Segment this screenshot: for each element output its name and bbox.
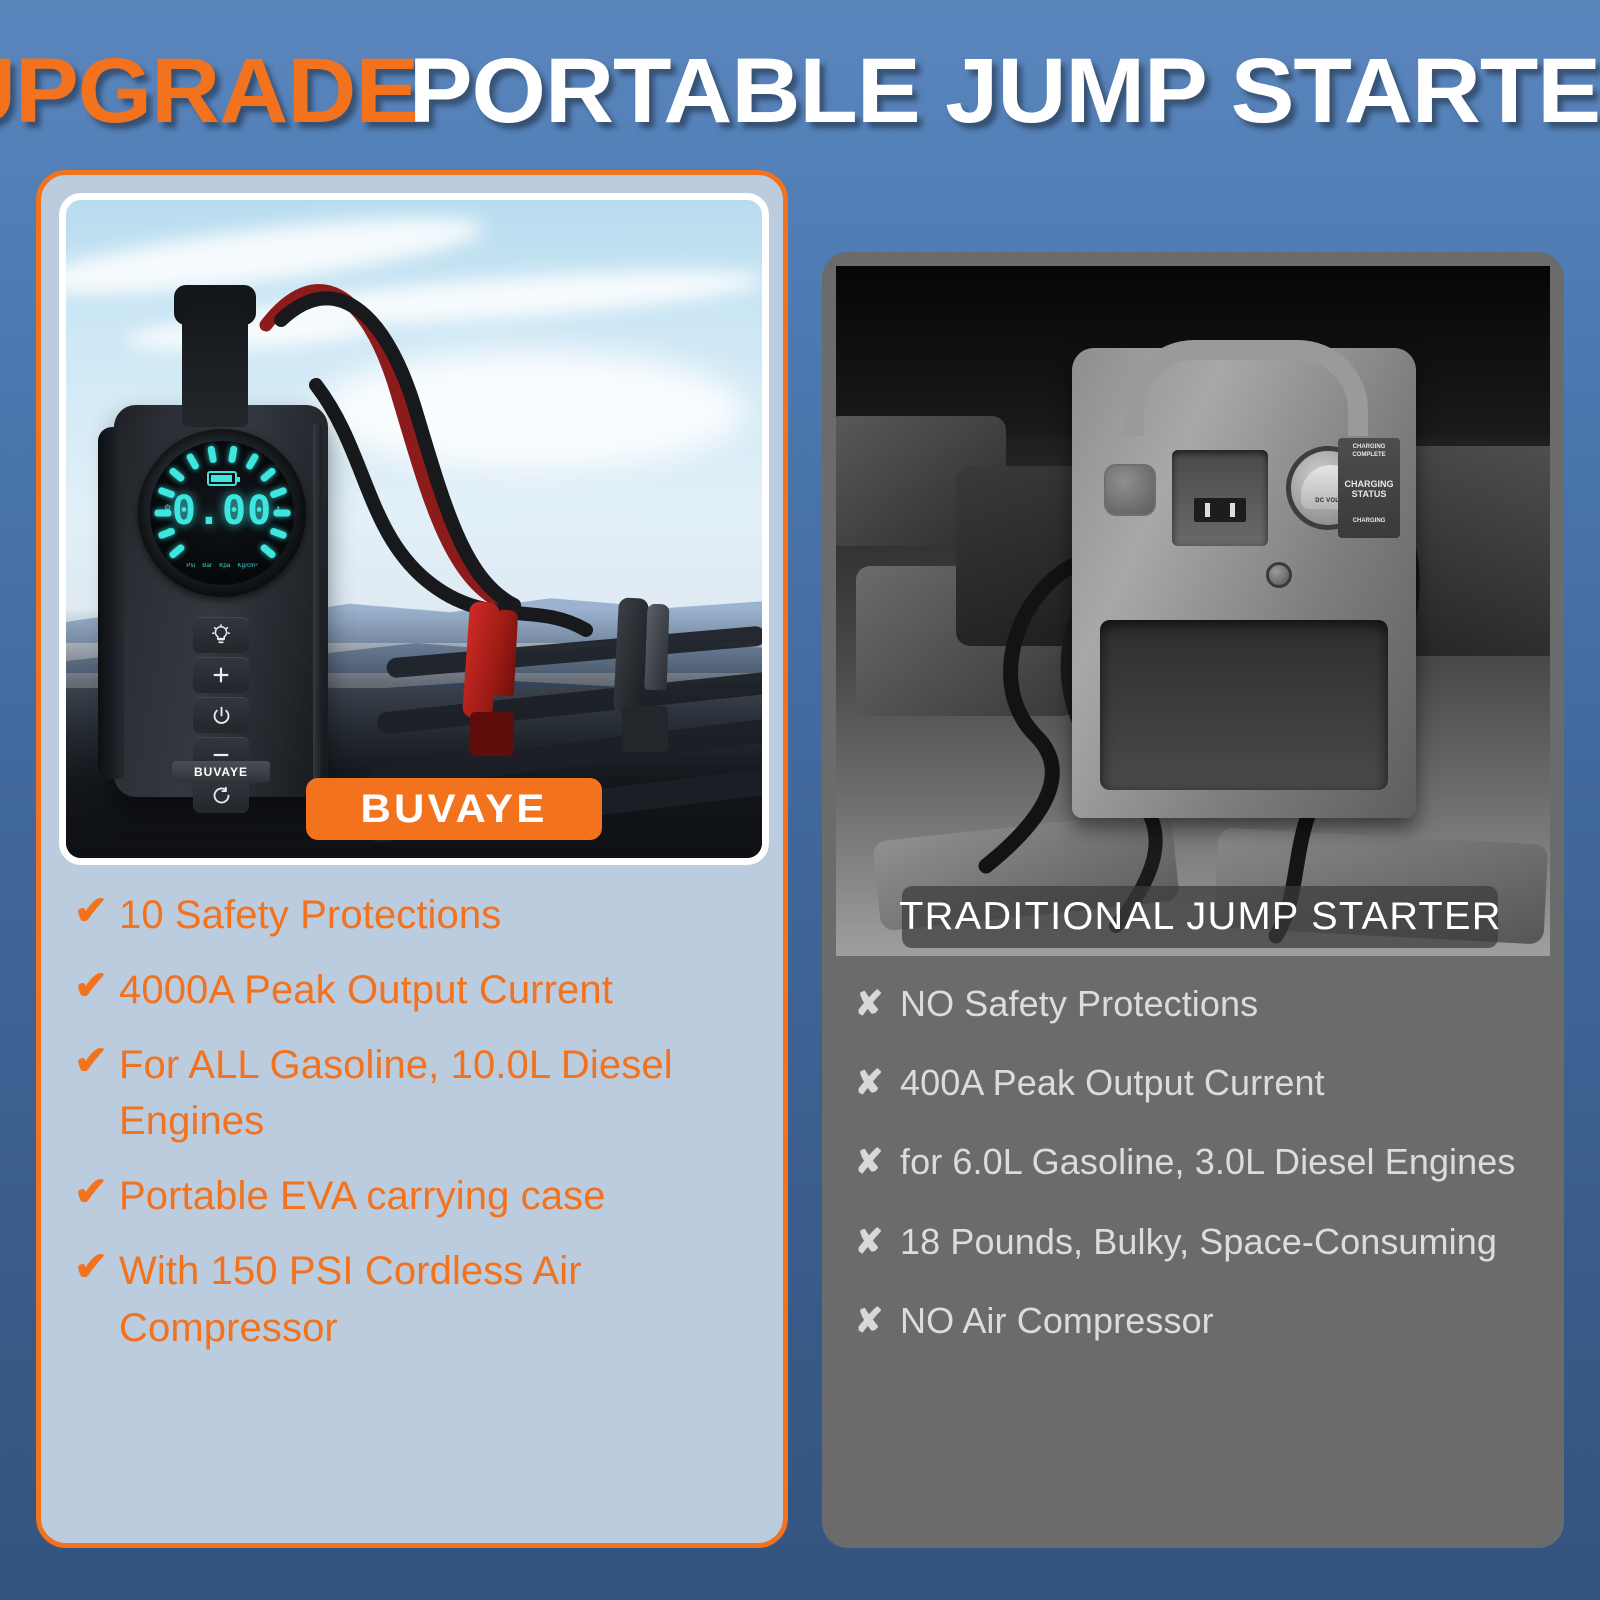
drawback-label: NO Air Compressor — [900, 1299, 1214, 1342]
drawback-list: ✘ NO Safety Protections ✘ 400A Peak Outp… — [838, 982, 1554, 1378]
product-photo-frame: ⚙ ◑ ⏱ 0.00 Psi Bar Kpa Kg/cm² — [59, 193, 769, 865]
list-item: ✘ NO Air Compressor — [838, 1299, 1554, 1342]
brand-badge-label: BUVAYE — [361, 787, 548, 832]
increase-button[interactable] — [193, 657, 249, 693]
lcd-display: ⚙ ◑ ⏱ 0.00 Psi Bar Kpa Kg/cm² — [150, 441, 294, 585]
indicator-dot — [1266, 562, 1292, 588]
device-handle — [182, 307, 248, 427]
brand-badge: BUVAYE — [306, 778, 602, 840]
cross-icon: ✘ — [838, 1061, 900, 1100]
page-title: UPGRADE PORTABLE JUMP STARTER — [0, 36, 1600, 146]
status-charging-label: CHARGING — [1338, 518, 1400, 524]
device-side — [98, 427, 124, 779]
drawback-label: 400A Peak Output Current — [900, 1061, 1325, 1104]
list-item: ✘ 18 Pounds, Bulky, Space-Consuming — [838, 1220, 1554, 1263]
portable-jump-starter-device: ⚙ ◑ ⏱ 0.00 Psi Bar Kpa Kg/cm² — [114, 405, 328, 797]
cross-icon: ✘ — [838, 982, 900, 1021]
device-handle — [1124, 340, 1368, 436]
feature-label: For ALL Gasoline, 10.0L Diesel Engines — [119, 1037, 761, 1151]
cross-icon: ✘ — [838, 1220, 900, 1259]
cross-icon: ✘ — [838, 1299, 900, 1338]
drawback-label: NO Safety Protections — [900, 982, 1258, 1025]
check-icon: ✔ — [63, 887, 119, 931]
title-rest: PORTABLE JUMP STARTER — [409, 39, 1600, 144]
light-button[interactable] — [193, 617, 249, 653]
list-item: ✘ for 6.0L Gasoline, 3.0L Diesel Engines — [838, 1140, 1554, 1183]
list-item: ✔ 10 Safety Protections — [63, 887, 761, 944]
title-highlight: UPGRADE — [0, 39, 418, 144]
drawback-label: for 6.0L Gasoline, 3.0L Diesel Engines — [900, 1140, 1516, 1183]
product-photo: ⚙ ◑ ⏱ 0.00 Psi Bar Kpa Kg/cm² — [66, 200, 762, 858]
list-item: ✔ Portable EVA carrying case — [63, 1168, 761, 1225]
dc-outlet-knob — [1104, 464, 1156, 516]
check-icon: ✔ — [63, 1243, 119, 1287]
unit-kpa: Kpa — [219, 563, 230, 569]
list-item: ✔ 4000A Peak Output Current — [63, 962, 761, 1019]
unit-psi: Psi — [186, 563, 195, 569]
device-button-column — [193, 617, 249, 817]
cross-icon: ✘ — [838, 1140, 900, 1179]
feature-label: 10 Safety Protections — [119, 887, 501, 944]
list-item: ✘ NO Safety Protections — [838, 982, 1554, 1025]
feature-label: 4000A Peak Output Current — [119, 962, 613, 1019]
feature-list: ✔ 10 Safety Protections ✔ 4000A Peak Out… — [63, 887, 761, 1375]
traditional-banner: TRADITIONAL JUMP STARTER — [902, 886, 1498, 948]
list-item: ✘ 400A Peak Output Current — [838, 1061, 1554, 1104]
traditional-banner-label: TRADITIONAL JUMP STARTER — [899, 895, 1502, 939]
traditional-photo: DC VOLTS CHARGING COMPLETE CHARGING STAT… — [836, 266, 1550, 956]
device-brand-label: BUVAYE — [172, 761, 270, 783]
power-button[interactable] — [193, 697, 249, 733]
status-title-label: CHARGING STATUS — [1338, 479, 1400, 500]
outlet-socket — [1172, 450, 1268, 546]
pressure-value: 0.00 — [150, 491, 294, 531]
feature-label: Portable EVA carrying case — [119, 1168, 606, 1225]
upgrade-product-panel: ⚙ ◑ ⏱ 0.00 Psi Bar Kpa Kg/cm² — [36, 170, 788, 1548]
unit-bar: Bar — [202, 563, 212, 569]
device-grip — [313, 423, 322, 783]
check-icon: ✔ — [63, 1037, 119, 1081]
charging-status-plate: CHARGING COMPLETE CHARGING STATUS CHARGI… — [1338, 438, 1400, 538]
list-item: ✔ For ALL Gasoline, 10.0L Diesel Engines — [63, 1037, 761, 1151]
lcd-bezel: ⚙ ◑ ⏱ 0.00 Psi Bar Kpa Kg/cm² — [138, 429, 306, 597]
unit-kgcm2: Kg/cm² — [237, 563, 257, 569]
device-recess — [1100, 620, 1388, 790]
feature-label: With 150 PSI Cordless Air Compressor — [119, 1243, 761, 1357]
check-icon: ✔ — [63, 962, 119, 1006]
drawback-label: 18 Pounds, Bulky, Space-Consuming — [900, 1220, 1497, 1263]
status-complete-label: CHARGING COMPLETE — [1338, 444, 1400, 459]
device-control-panel: DC VOLTS CHARGING COMPLETE CHARGING STAT… — [1090, 436, 1398, 596]
check-icon: ✔ — [63, 1168, 119, 1212]
traditional-jump-starter-device: DC VOLTS CHARGING COMPLETE CHARGING STAT… — [1072, 348, 1416, 818]
pressure-units: Psi Bar Kpa Kg/cm² — [150, 563, 294, 569]
traditional-product-panel: DC VOLTS CHARGING COMPLETE CHARGING STAT… — [822, 252, 1564, 1548]
list-item: ✔ With 150 PSI Cordless Air Compressor — [63, 1243, 761, 1357]
battery-full-icon — [207, 471, 237, 486]
